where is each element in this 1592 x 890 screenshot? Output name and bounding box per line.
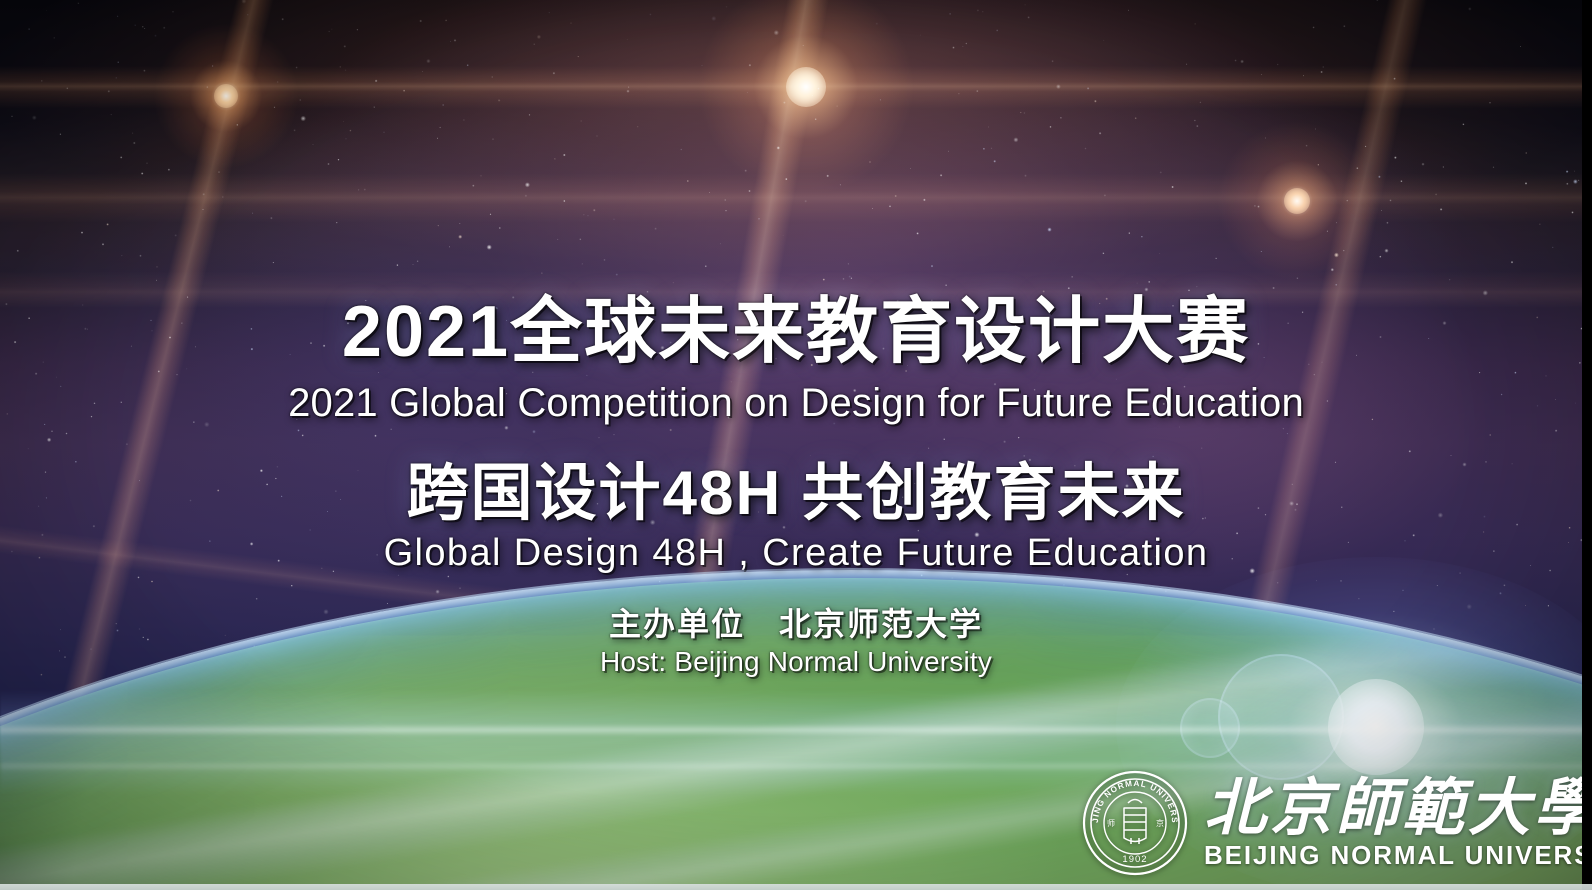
bnu-name-en: BEIJING NORMAL UNIVERSITY bbox=[1204, 842, 1582, 868]
flare-core bbox=[214, 84, 238, 108]
competition-title-en: 2021 Global Competition on Design for Fu… bbox=[0, 383, 1592, 423]
bnu-logo-text: 北京師範大學 BEIJING NORMAL UNIVERSITY bbox=[1204, 778, 1582, 869]
lens-flare-center-icon bbox=[805, 86, 807, 88]
svg-text:1902: 1902 bbox=[1122, 854, 1147, 865]
flare-core bbox=[1284, 188, 1310, 214]
flare-halo bbox=[1217, 121, 1377, 281]
lens-flare-left-icon bbox=[225, 95, 227, 97]
svg-text:京: 京 bbox=[1156, 818, 1164, 828]
flare-core bbox=[786, 67, 826, 107]
flare-halo bbox=[151, 21, 301, 171]
lens-flare-right-icon bbox=[1296, 200, 1298, 202]
bnu-seal-icon: BEIJING NORMAL UNIVERSITY 师 京 1902 bbox=[1082, 770, 1188, 876]
bnu-name-cn: 北京師範大學 bbox=[1204, 778, 1582, 839]
host-label-en: Host: Beijing Normal University bbox=[0, 648, 1592, 676]
bnu-logo: BEIJING NORMAL UNIVERSITY 师 京 1902 北京師範大… bbox=[1082, 762, 1582, 884]
competition-title-cn: 2021全球未来教育设计大赛 bbox=[0, 296, 1592, 368]
flare-halo bbox=[691, 0, 921, 202]
host-label-cn: 主办单位 北京师范大学 bbox=[0, 608, 1592, 640]
svg-text:师: 师 bbox=[1107, 818, 1115, 828]
competition-slogan-cn: 跨国设计48H 共创教育未来 bbox=[0, 463, 1592, 525]
competition-slogan-en: Global Design 48H , Create Future Educat… bbox=[0, 534, 1592, 572]
poster-canvas: 2021全球未来教育设计大赛 2021 Global Competition o… bbox=[0, 0, 1592, 890]
